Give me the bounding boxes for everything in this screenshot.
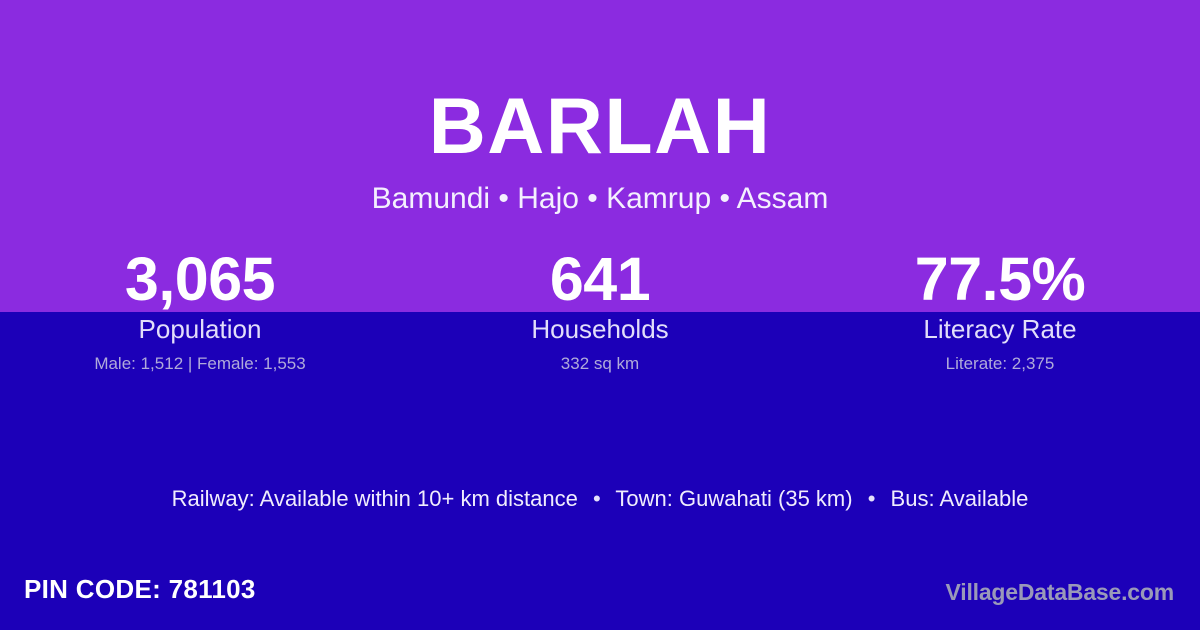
infra-item-railway: Railway: Available within 10+ km distanc… — [172, 486, 578, 511]
stat-population: 3,065 Population Male: 1,512 | Female: 1… — [0, 246, 400, 374]
stat-literacy-rate: 77.5% Literacy Rate Literate: 2,375 — [800, 246, 1200, 374]
infrastructure-line: Railway: Available within 10+ km distanc… — [0, 485, 1200, 513]
stat-value: 77.5% — [800, 246, 1200, 312]
stat-subtext: Male: 1,512 | Female: 1,553 — [0, 353, 400, 374]
breadcrumb: Bamundi • Hajo • Kamrup • Assam — [0, 181, 1200, 217]
stat-households: 641 Households 332 sq km — [400, 246, 800, 374]
stat-subtext: Literate: 2,375 — [800, 353, 1200, 374]
village-info-card: BARLAH Bamundi • Hajo • Kamrup • Assam 3… — [0, 0, 1200, 630]
infra-item-bus: Bus: Available — [891, 486, 1029, 511]
stat-label: Population — [0, 314, 400, 345]
bullet-separator-icon: • — [859, 485, 885, 513]
stat-label: Literacy Rate — [800, 314, 1200, 345]
stats-row: 3,065 Population Male: 1,512 | Female: 1… — [0, 246, 1200, 374]
stat-label: Households — [400, 314, 800, 345]
bullet-separator-icon: • — [584, 485, 610, 513]
stat-value: 641 — [400, 246, 800, 312]
stat-value: 3,065 — [0, 246, 400, 312]
stat-subtext: 332 sq km — [400, 353, 800, 374]
card-footer: PIN CODE: 781103 VillageDataBase.com — [0, 572, 1200, 612]
infra-item-town: Town: Guwahati (35 km) — [615, 486, 852, 511]
page-title: BARLAH — [0, 83, 1200, 169]
pin-code-text: PIN CODE: 781103 — [24, 572, 256, 606]
card-content: BARLAH Bamundi • Hajo • Kamrup • Assam 3… — [0, 0, 1200, 630]
brand-watermark: VillageDataBase.com — [946, 577, 1174, 607]
